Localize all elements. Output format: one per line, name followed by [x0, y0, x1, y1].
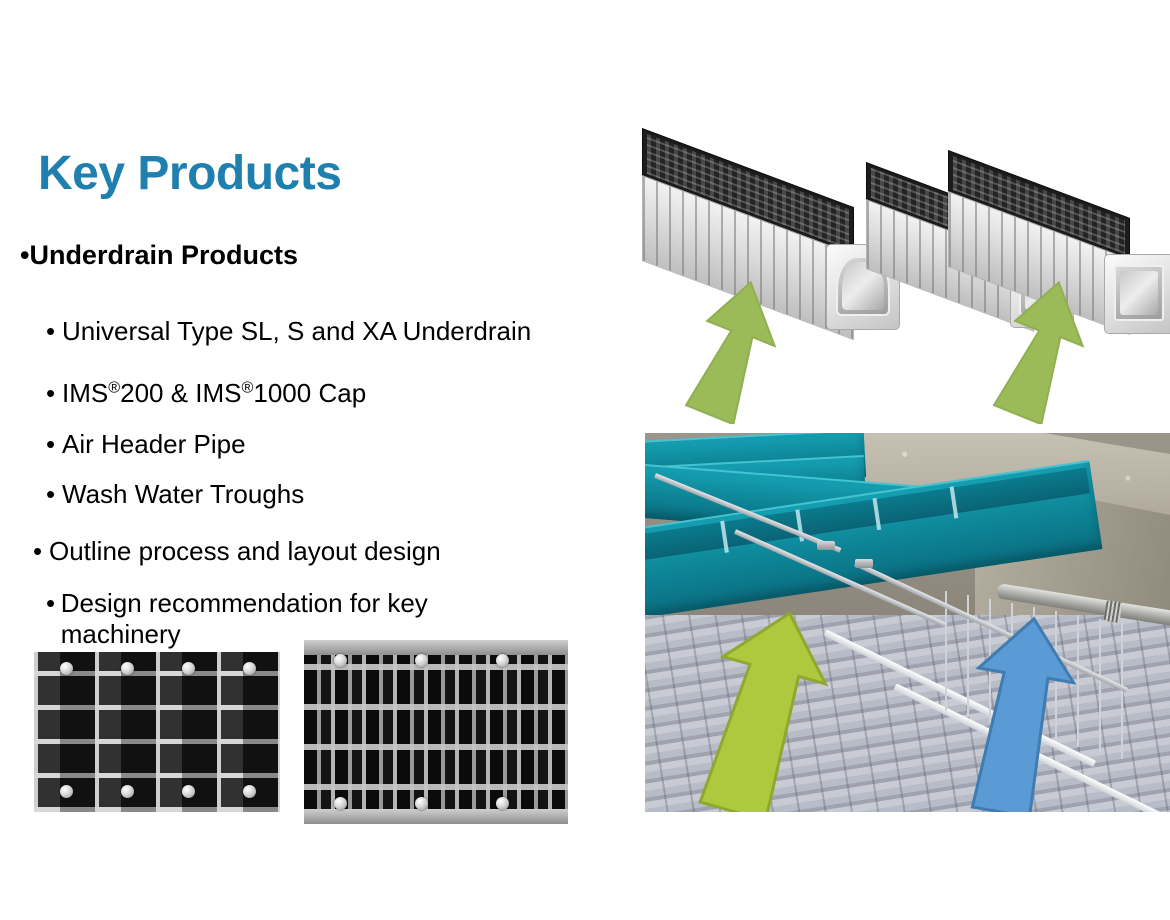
list-item-ims-cap: • IMS®200 & IMS®1000 Cap	[46, 378, 531, 409]
list-item-label: Wash Water Troughs	[62, 479, 304, 510]
subhead-underdrain-products: •Underdrain Products	[20, 240, 298, 271]
ims-suffix: 1000 Cap	[253, 378, 366, 408]
underdrain-block-plan-photo-1	[34, 652, 280, 812]
bullet-icon: •	[33, 536, 49, 567]
arrow-to-underdrain-floor	[665, 603, 855, 812]
ims-prefix: IMS	[62, 378, 108, 408]
bullet-icon: •	[46, 316, 62, 347]
product-bullet-list: • Universal Type SL, S and XA Underdrain…	[46, 316, 531, 510]
bolt-stud-icon	[415, 797, 428, 810]
slide-canvas: Key Products •Underdrain Products • Univ…	[0, 0, 1170, 920]
list-item-outline-process: • Outline process and layout design	[33, 536, 516, 567]
list-item-wash-water-troughs: • Wash Water Troughs	[46, 479, 531, 510]
filter-basin-installation-photo	[645, 433, 1170, 812]
bullet-icon: •	[46, 479, 62, 510]
page-title: Key Products	[38, 146, 341, 201]
arrow-to-sl-block	[666, 274, 786, 424]
bolt-stud-icon	[182, 662, 195, 675]
cap-bottom-edge	[304, 809, 568, 824]
registered-mark-icon: ®	[242, 378, 254, 396]
list-item-label: Outline process and layout design	[49, 536, 441, 567]
arrow-to-xa-block	[974, 274, 1094, 424]
list-item-label: Universal Type SL, S and XA Underdrain	[62, 316, 531, 347]
cap-top-edge	[304, 640, 568, 655]
bullet-icon: •	[46, 378, 62, 409]
arrow-to-air-header-pipe	[935, 611, 1095, 812]
ims-mid: 200 & IMS	[120, 378, 241, 408]
block-outlet-port-square	[1114, 265, 1164, 321]
underdrain-cap-detail-photo	[304, 640, 568, 824]
bolt-stud-icon	[121, 662, 134, 675]
list-item-label: Air Header Pipe	[62, 429, 246, 460]
list-item-air-header-pipe: • Air Header Pipe	[46, 429, 531, 460]
pipe-collar	[1103, 600, 1122, 623]
bolt-stud-icon	[415, 654, 428, 667]
bolt-stud-icon	[496, 797, 509, 810]
bolt-stud-icon	[334, 797, 347, 810]
underdrain-block-products-photo	[614, 124, 1170, 424]
bolt-stud-icon	[60, 785, 73, 798]
list-item-label: IMS®200 & IMS®1000 Cap	[62, 378, 366, 409]
bullet-icon: •	[46, 429, 62, 460]
bolt-stud-icon	[496, 654, 509, 667]
registered-mark-icon: ®	[108, 378, 120, 396]
cap-cross-bands	[304, 640, 568, 824]
bolt-stud-icon	[60, 662, 73, 675]
subhead-label: Underdrain Products	[29, 240, 298, 270]
bolt-stud-icon	[182, 785, 195, 798]
bolt-stud-icon	[334, 654, 347, 667]
bolt-stud-icon	[243, 662, 256, 675]
list-item-universal-underdrain: • Universal Type SL, S and XA Underdrain	[46, 316, 531, 347]
design-bullet-list: • Outline process and layout design • De…	[33, 536, 516, 649]
bolt-stud-icon	[121, 785, 134, 798]
bolt-stud-icon	[243, 785, 256, 798]
bullet-icon: •	[46, 588, 61, 619]
